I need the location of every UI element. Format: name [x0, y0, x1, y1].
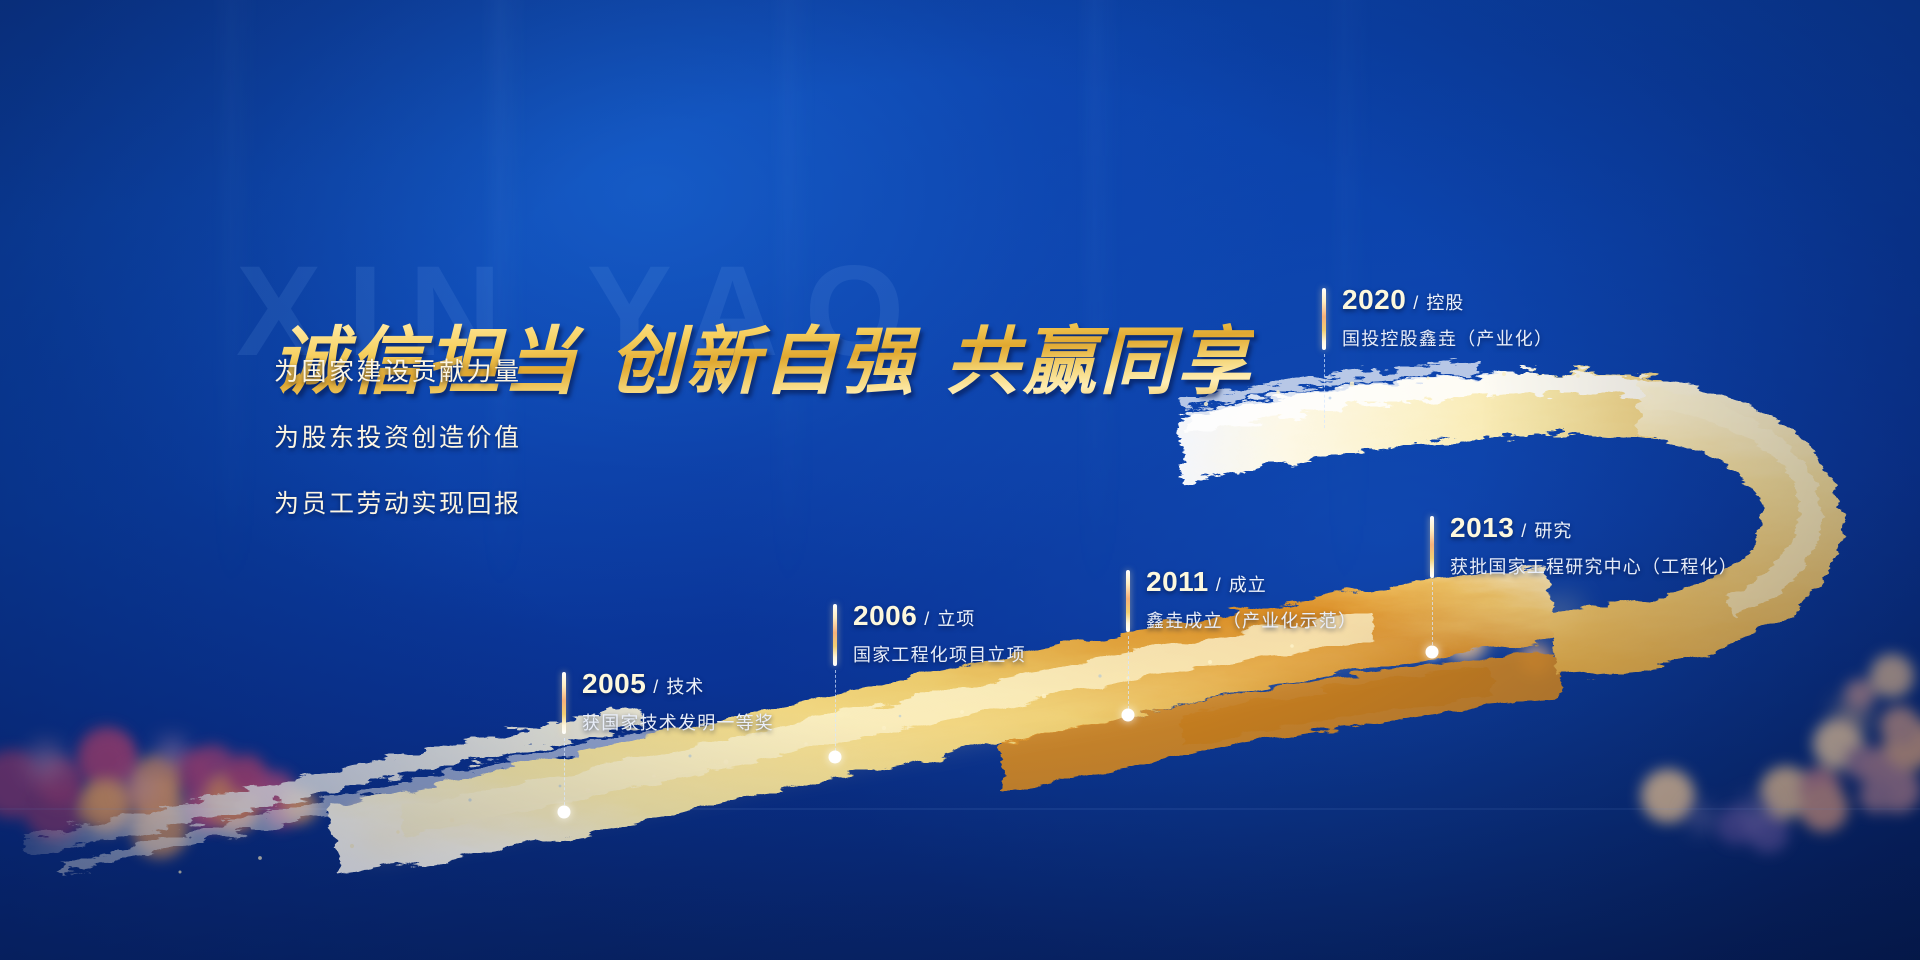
milestone-accent-bar — [1430, 516, 1434, 578]
bokeh-cluster-left-upper — [36, 734, 299, 830]
slogan-line: 为员工劳动实现回报 — [274, 484, 522, 520]
bokeh-left-soft — [27, 738, 186, 805]
milestone-description: 获批国家工程研究中心（工程化） — [1450, 553, 1738, 579]
banner-canvas: XIN YAO 诚信担当 创新自强 共赢同享 为国家建设贡献力量 为股东投资创造… — [0, 0, 1920, 960]
milestone-description: 国家工程化项目立项 — [853, 641, 1026, 667]
milestone-accent-bar — [833, 604, 837, 666]
milestone-accent-bar — [1322, 288, 1326, 350]
milestone-separator: / — [1521, 521, 1527, 541]
milestone-year: 2013 — [1450, 512, 1514, 543]
milestone-separator: / — [1413, 293, 1419, 313]
milestone-category: 成立 — [1229, 575, 1267, 595]
milestone-node-2005[interactable] — [558, 806, 571, 819]
milestone-text: 2006/立项 国家工程化项目立项 — [853, 600, 1026, 667]
milestone-connector-2006 — [835, 670, 836, 756]
milestone-accent-bar — [1126, 570, 1130, 632]
milestone-text: 2013/研究 获批国家工程研究中心（工程化） — [1450, 512, 1738, 579]
milestone-node-2013[interactable] — [1426, 646, 1439, 659]
milestone-year: 2020 — [1342, 284, 1406, 315]
milestone-separator: / — [924, 609, 930, 629]
milestone-description: 获国家技术发明一等奖 — [582, 709, 774, 735]
milestone-year: 2006 — [853, 600, 917, 631]
milestone-node-2006[interactable] — [829, 751, 842, 764]
milestone-accent-bar — [562, 672, 566, 734]
milestone-text: 2020/控股 国投控股鑫垚（产业化） — [1342, 284, 1553, 351]
slogan-line: 为国家建设贡献力量 — [274, 352, 522, 388]
milestone-node-2011[interactable] — [1122, 709, 1135, 722]
milestone-separator: / — [1216, 575, 1222, 595]
slogan-list: 为国家建设贡献力量 为股东投资创造价值 为员工劳动实现回报 — [274, 352, 522, 550]
milestone-category: 技术 — [666, 677, 704, 697]
milestone-connector-2011 — [1128, 636, 1129, 714]
milestone-text: 2005/技术 获国家技术发明一等奖 — [582, 668, 774, 735]
milestone-category: 控股 — [1426, 293, 1464, 313]
milestone-year: 2005 — [582, 668, 646, 699]
milestone-year: 2011 — [1146, 566, 1209, 597]
milestone-connector-2013 — [1432, 582, 1433, 650]
milestone-description: 鑫垚成立（产业化示范） — [1146, 607, 1357, 633]
milestone-separator: / — [653, 677, 659, 697]
milestone-connector-2020 — [1324, 354, 1325, 428]
milestone-category: 研究 — [1534, 521, 1572, 541]
bokeh-cluster-left — [0, 725, 256, 858]
bokeh-right-soft — [1689, 698, 1870, 831]
milestone-category: 立项 — [937, 609, 975, 629]
milestone-connector-2005 — [564, 738, 565, 810]
milestone-description: 国投控股鑫垚（产业化） — [1342, 325, 1553, 351]
slogan-line: 为股东投资创造价值 — [274, 418, 522, 454]
bokeh-cluster-right — [1641, 706, 1920, 853]
bokeh-right-lower — [1446, 622, 1914, 709]
bokeh-cluster-left-extra — [187, 745, 395, 855]
milestone-text: 2011/成立 鑫垚成立（产业化示范） — [1146, 566, 1357, 633]
